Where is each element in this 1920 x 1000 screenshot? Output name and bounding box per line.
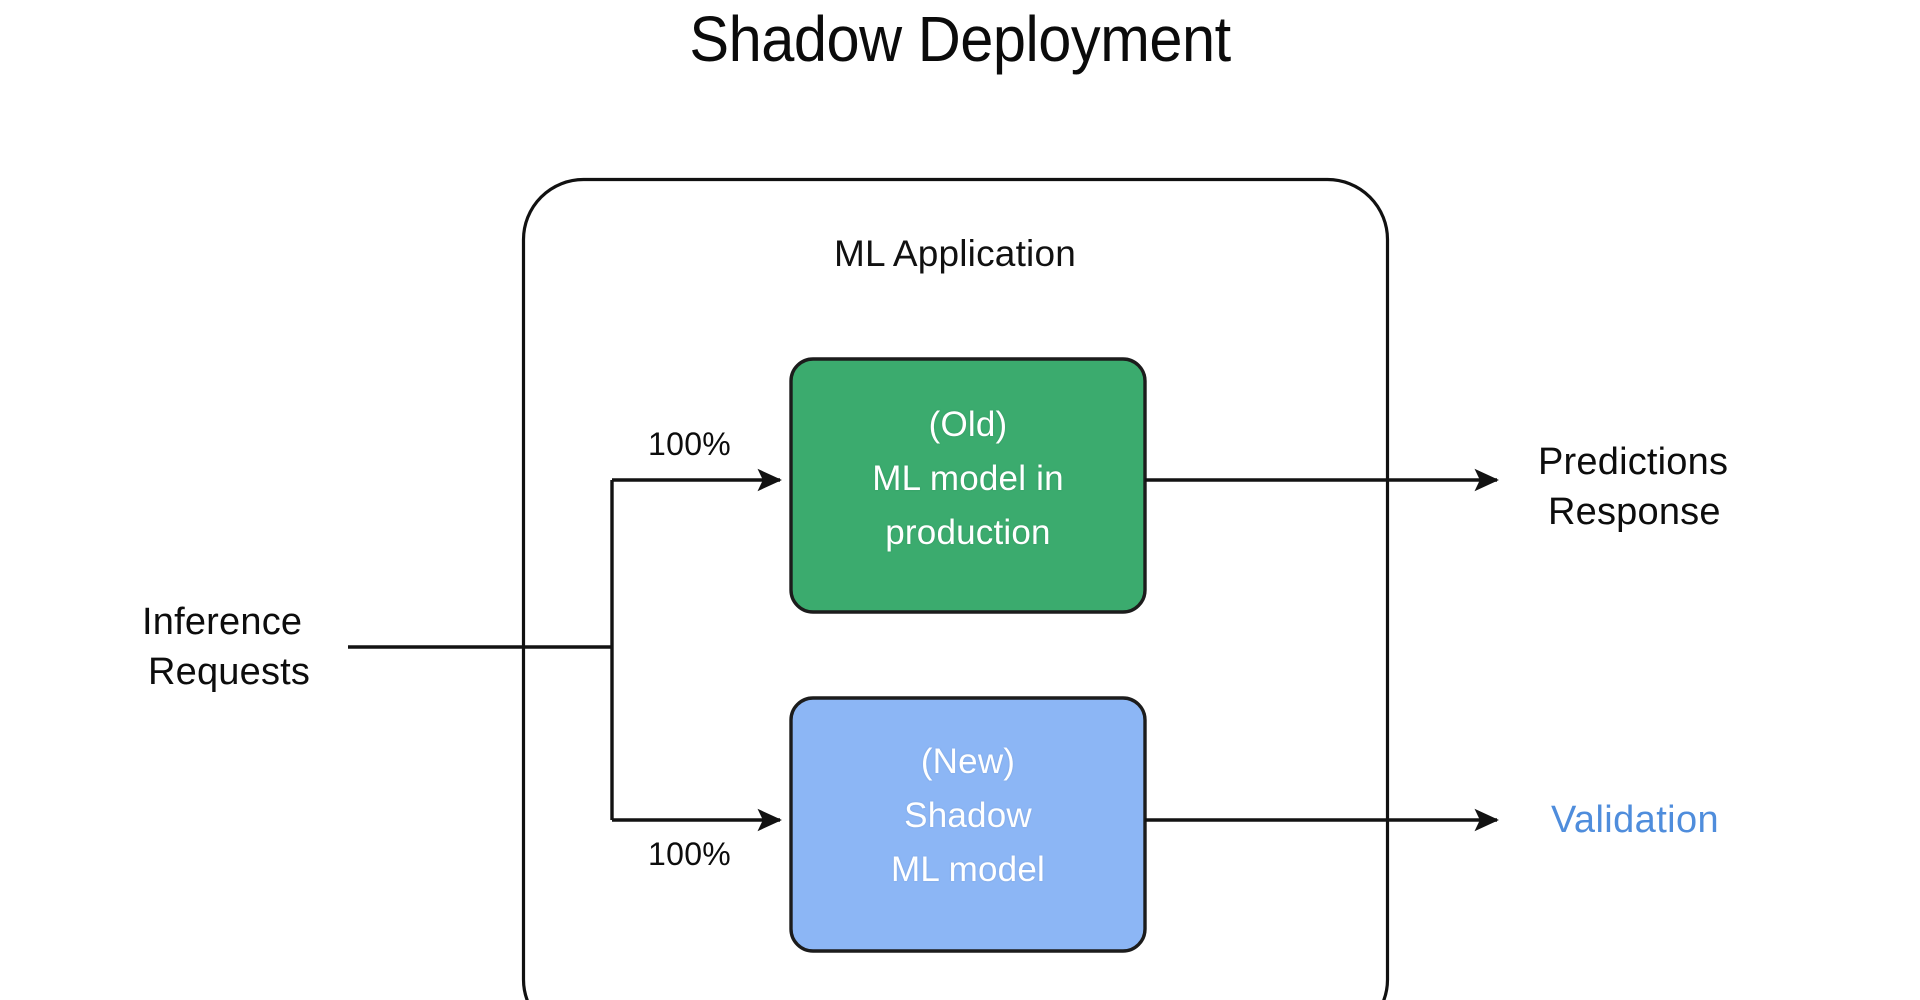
predictions-response-line-2: Response [1538, 487, 1728, 537]
inference-requests-label: Inference Requests [142, 597, 310, 697]
diagram-canvas: Shadow Deployment ML Application (Old) M… [0, 0, 1920, 1000]
predictions-response-label: Predictions Response [1538, 437, 1728, 537]
inference-requests-line-2: Requests [142, 647, 310, 697]
ml-application-label: ML Application [522, 233, 1388, 275]
predictions-response-line-1: Predictions [1538, 437, 1728, 487]
validation-label: Validation [1551, 795, 1719, 845]
traffic-percent-bottom: 100% [648, 836, 731, 873]
page-title: Shadow Deployment [67, 2, 1853, 76]
old-model-box[interactable] [791, 359, 1145, 612]
traffic-percent-top: 100% [648, 426, 731, 463]
inference-requests-line-1: Inference [142, 597, 310, 647]
new-model-box[interactable] [791, 698, 1145, 951]
